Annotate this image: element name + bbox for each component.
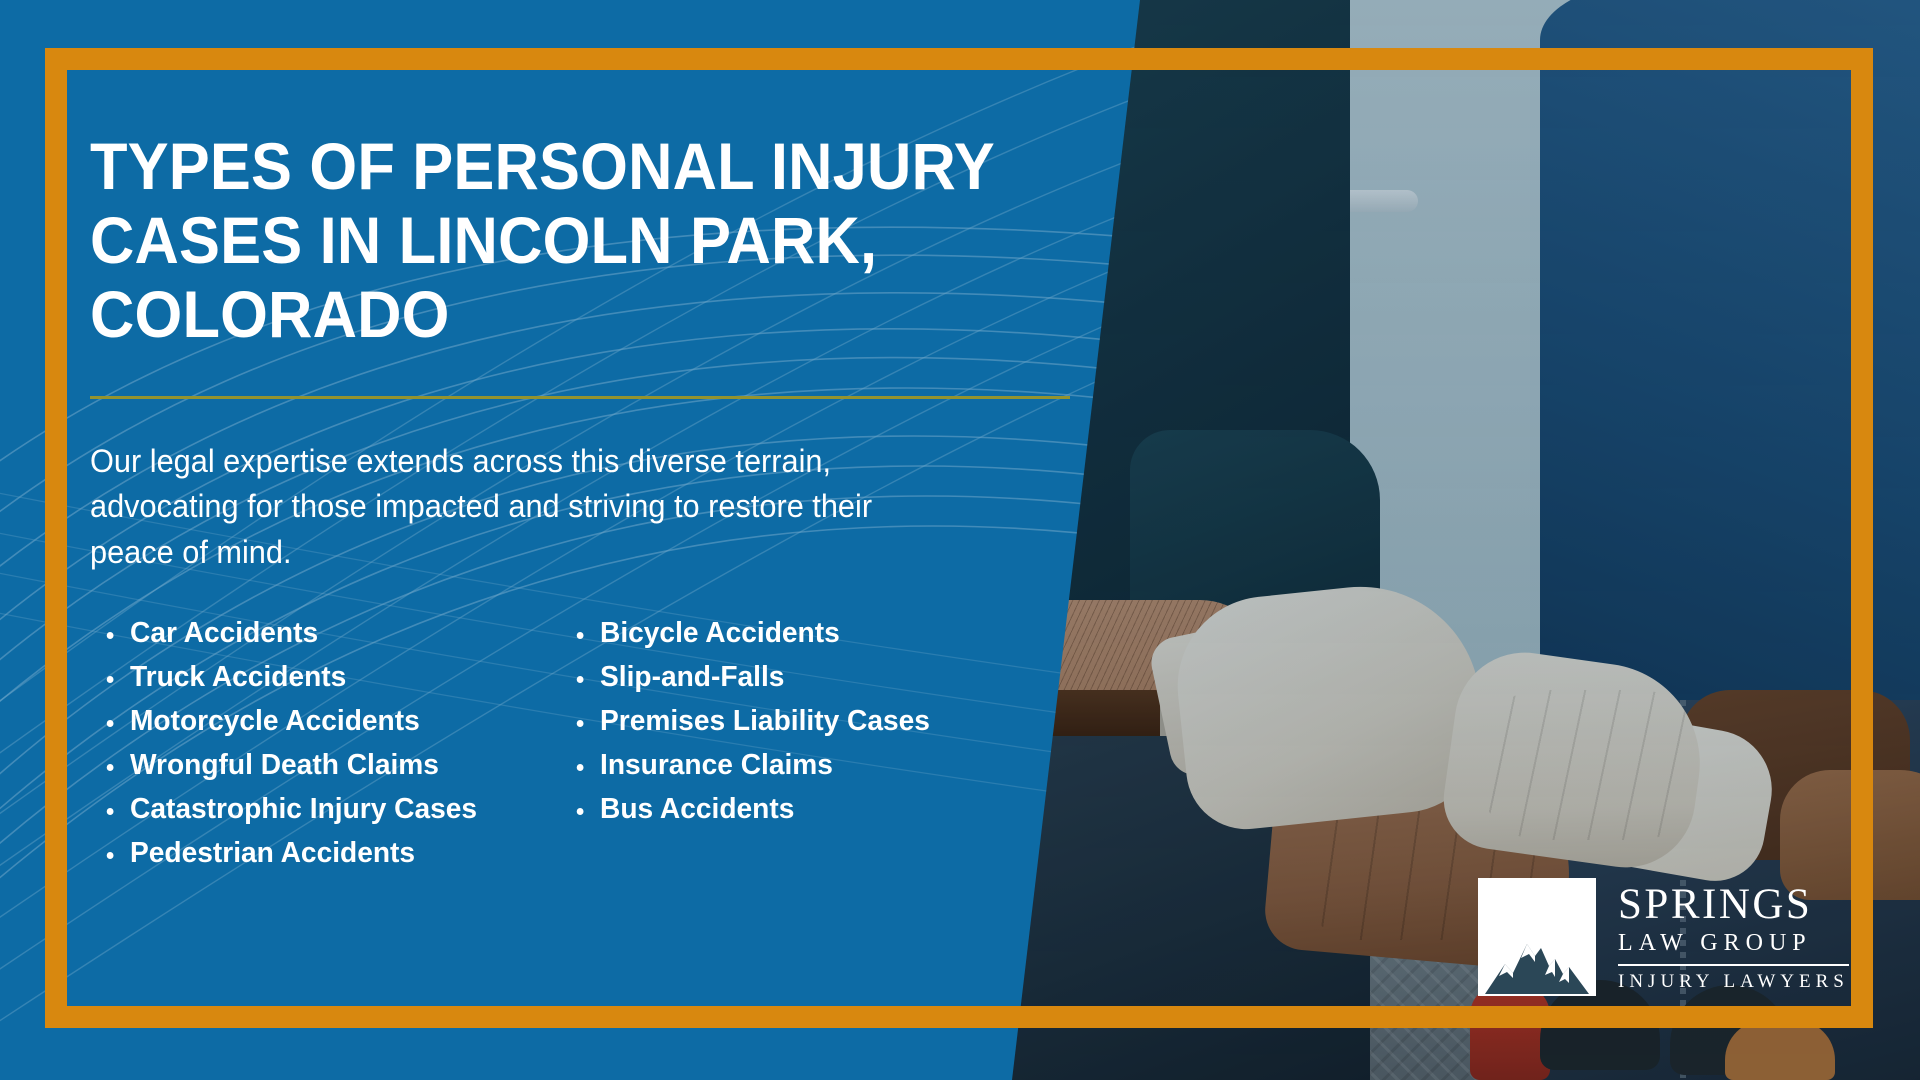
case-list-left: Car Accidents Truck Accidents Motorcycle…: [90, 611, 560, 875]
list-item: Motorcycle Accidents: [130, 699, 547, 743]
list-item: Wrongful Death Claims: [130, 743, 547, 787]
intro-paragraph: Our legal expertise extends across this …: [90, 439, 896, 575]
list-item: Catastrophic Injury Cases: [130, 787, 547, 831]
page-title: TYPES OF PERSONAL INJURY CASES IN LINCOL…: [90, 130, 1029, 352]
logo-line-injury-lawyers: INJURY LAWYERS: [1618, 972, 1849, 991]
case-type-columns: Car Accidents Truck Accidents Motorcycle…: [90, 611, 1100, 875]
case-list-right: Bicycle Accidents Slip-and-Falls Premise…: [560, 611, 1030, 831]
list-item: Insurance Claims: [600, 743, 1017, 787]
logo-divider-rule: [1618, 964, 1849, 966]
slide-content: TYPES OF PERSONAL INJURY CASES IN LINCOL…: [90, 130, 1100, 876]
title-divider: [90, 396, 1070, 399]
list-item: Premises Liability Cases: [600, 699, 1017, 743]
list-item: Car Accidents: [130, 611, 547, 655]
list-item: Truck Accidents: [130, 655, 547, 699]
logo-line-springs: SPRINGS: [1618, 883, 1849, 926]
list-item: Bus Accidents: [600, 787, 1017, 831]
case-list-right-column: Bicycle Accidents Slip-and-Falls Premise…: [560, 611, 1030, 875]
brand-logo: SPRINGS LAW GROUP INJURY LAWYERS: [1478, 878, 1849, 996]
list-item: Pedestrian Accidents: [130, 831, 547, 875]
list-item: Slip-and-Falls: [600, 655, 1017, 699]
logo-wordmark: SPRINGS LAW GROUP INJURY LAWYERS: [1618, 878, 1849, 996]
slide-canvas: TYPES OF PERSONAL INJURY CASES IN LINCOL…: [0, 0, 1920, 1080]
case-list-left-column: Car Accidents Truck Accidents Motorcycle…: [90, 611, 560, 875]
mountain-icon: [1478, 878, 1596, 996]
list-item: Bicycle Accidents: [600, 611, 1017, 655]
logo-line-lawgroup: LAW GROUP: [1618, 928, 1849, 958]
